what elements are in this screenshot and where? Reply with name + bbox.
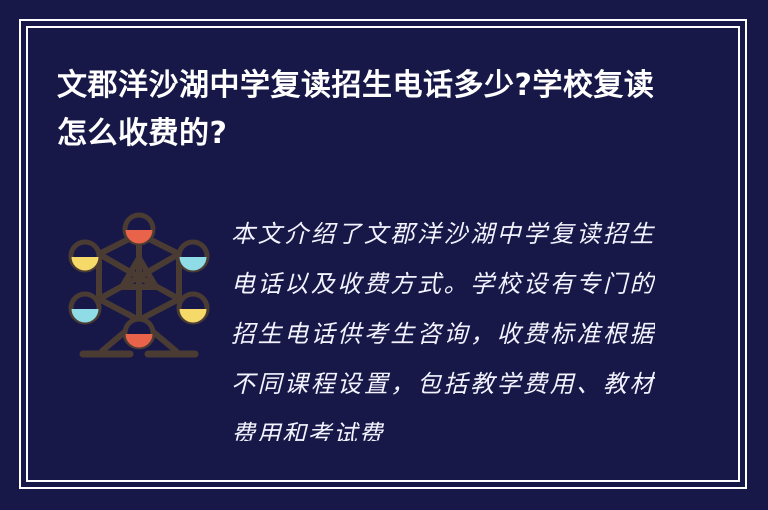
gondola-lower-left [71, 294, 99, 323]
gondola-lower-right [179, 294, 207, 323]
article-summary-text: 本文介绍了文郡洋沙湖中学复读招生电话以及收费方式。学校设有专门的招生电话供考生咨… [231, 209, 655, 441]
gondola-top [125, 215, 153, 244]
gondola-upper-left [71, 242, 99, 271]
gondola-bottom [125, 319, 153, 348]
gondola-upper-right [179, 242, 207, 271]
ferris-wheel-illustration [62, 196, 217, 371]
page-title: 文郡洋沙湖中学复读招生电话多少?学校复读怎么收费的? [57, 62, 657, 158]
poster-canvas: 文郡洋沙湖中学复读招生电话多少?学校复读怎么收费的? [0, 0, 768, 510]
